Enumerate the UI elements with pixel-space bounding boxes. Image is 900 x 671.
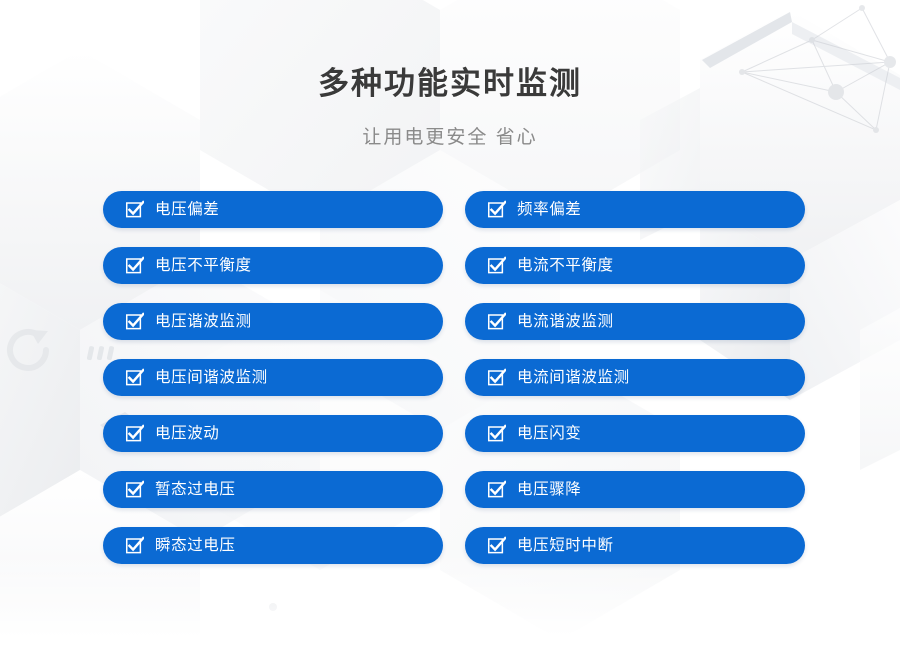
checkbox-checked-icon bbox=[487, 368, 506, 387]
page-subtitle: 让用电更安全 省心 bbox=[0, 104, 900, 151]
feature-column-left: 电压偏差 电压不平衡度 电压谐波监测 bbox=[103, 191, 443, 564]
checkbox-checked-icon bbox=[487, 200, 506, 219]
feature-label: 电压短时中断 bbox=[517, 536, 614, 555]
checkbox-checked-icon bbox=[125, 368, 144, 387]
checkbox-checked-icon bbox=[125, 312, 144, 331]
feature-label: 瞬态过电压 bbox=[155, 536, 236, 555]
promo-banner: 多种功能实时监测 让用电更安全 省心 电压偏差 电压不平衡度 bbox=[0, 0, 900, 671]
feature-item[interactable]: 电压间谐波监测 bbox=[103, 359, 443, 396]
feature-item[interactable]: 电压短时中断 bbox=[465, 527, 805, 564]
feature-label: 电流间谐波监测 bbox=[517, 368, 630, 387]
checkbox-checked-icon bbox=[487, 424, 506, 443]
bottom-fade bbox=[0, 551, 900, 671]
feature-item[interactable]: 电压谐波监测 bbox=[103, 303, 443, 340]
feature-label: 暂态过电压 bbox=[155, 480, 236, 499]
checkbox-checked-icon bbox=[125, 200, 144, 219]
checkbox-checked-icon bbox=[487, 536, 506, 555]
feature-item[interactable]: 瞬态过电压 bbox=[103, 527, 443, 564]
feature-label: 电压谐波监测 bbox=[155, 312, 252, 331]
feature-item[interactable]: 电压不平衡度 bbox=[103, 247, 443, 284]
checkbox-checked-icon bbox=[125, 536, 144, 555]
feature-item[interactable]: 电压骤降 bbox=[465, 471, 805, 508]
feature-item[interactable]: 电流谐波监测 bbox=[465, 303, 805, 340]
feature-label: 电压偏差 bbox=[155, 200, 219, 219]
feature-label: 电压骤降 bbox=[517, 480, 581, 499]
feature-item[interactable]: 频率偏差 bbox=[465, 191, 805, 228]
feature-label: 电流不平衡度 bbox=[517, 256, 614, 275]
checkbox-checked-icon bbox=[487, 480, 506, 499]
feature-list: 电压偏差 电压不平衡度 电压谐波监测 bbox=[103, 191, 805, 564]
page-title: 多种功能实时监测 bbox=[0, 0, 900, 104]
feature-item[interactable]: 电流不平衡度 bbox=[465, 247, 805, 284]
refresh-glyph-decoration bbox=[10, 330, 48, 368]
feature-label: 电流谐波监测 bbox=[517, 312, 614, 331]
header: 多种功能实时监测 让用电更安全 省心 bbox=[0, 0, 900, 151]
checkbox-checked-icon bbox=[487, 312, 506, 331]
feature-label: 电压闪变 bbox=[517, 424, 581, 443]
checkbox-checked-icon bbox=[125, 424, 144, 443]
checkbox-checked-icon bbox=[125, 256, 144, 275]
feature-item[interactable]: 电压波动 bbox=[103, 415, 443, 452]
feature-item[interactable]: 电压闪变 bbox=[465, 415, 805, 452]
feature-item[interactable]: 电压偏差 bbox=[103, 191, 443, 228]
feature-label: 频率偏差 bbox=[517, 200, 581, 219]
feature-item[interactable]: 暂态过电压 bbox=[103, 471, 443, 508]
feature-item[interactable]: 电流间谐波监测 bbox=[465, 359, 805, 396]
feature-label: 电压波动 bbox=[155, 424, 219, 443]
feature-label: 电压不平衡度 bbox=[155, 256, 252, 275]
checkbox-checked-icon bbox=[125, 480, 144, 499]
feature-column-right: 频率偏差 电流不平衡度 电流谐波监测 bbox=[465, 191, 805, 564]
feature-label: 电压间谐波监测 bbox=[155, 368, 268, 387]
checkbox-checked-icon bbox=[487, 256, 506, 275]
